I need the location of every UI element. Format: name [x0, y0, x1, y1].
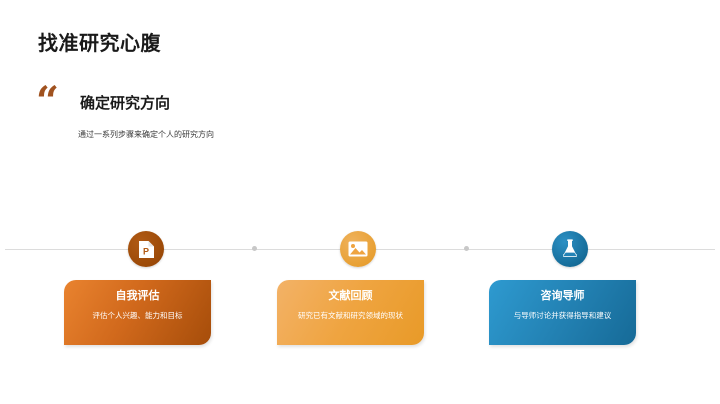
file-presentation-icon: P	[138, 240, 155, 259]
step-card-title: 文献回顾	[286, 289, 415, 303]
step-icon-circle-2[interactable]	[340, 231, 376, 267]
slide-canvas: 找准研究心腹 “ 确定研究方向 通过一系列步骤来确定个人的研究方向 P	[0, 0, 720, 404]
step-icon-circle-3[interactable]	[552, 231, 588, 267]
step-card-3[interactable]: 咨询导师 与导师讨论并获得指导和建议	[489, 280, 636, 345]
svg-text:P: P	[143, 246, 149, 256]
step-card-title: 咨询导师	[498, 289, 627, 303]
image-photo-icon	[348, 241, 368, 257]
step-card-2[interactable]: 文献回顾 研究已有文献和研究领域的现状	[277, 280, 424, 345]
step-icon-circle-1[interactable]: P	[128, 231, 164, 267]
step-card-description: 研究已有文献和研究领域的现状	[286, 310, 415, 321]
step-card-title: 自我评估	[73, 289, 202, 303]
quote-subtitle: 通过一系列步骤来确定个人的研究方向	[78, 129, 214, 140]
quote-open-icon: “	[36, 82, 59, 122]
quote-heading: 确定研究方向	[80, 92, 170, 113]
timeline-connector-dot	[252, 246, 257, 251]
timeline-connector-dot	[464, 246, 469, 251]
page-title: 找准研究心腹	[38, 27, 161, 56]
flask-beaker-icon	[561, 239, 579, 259]
step-card-1[interactable]: 自我评估 评估个人兴趣、能力和目标	[64, 280, 211, 345]
step-card-description: 评估个人兴趣、能力和目标	[73, 310, 202, 321]
step-card-description: 与导师讨论并获得指导和建议	[498, 310, 627, 321]
